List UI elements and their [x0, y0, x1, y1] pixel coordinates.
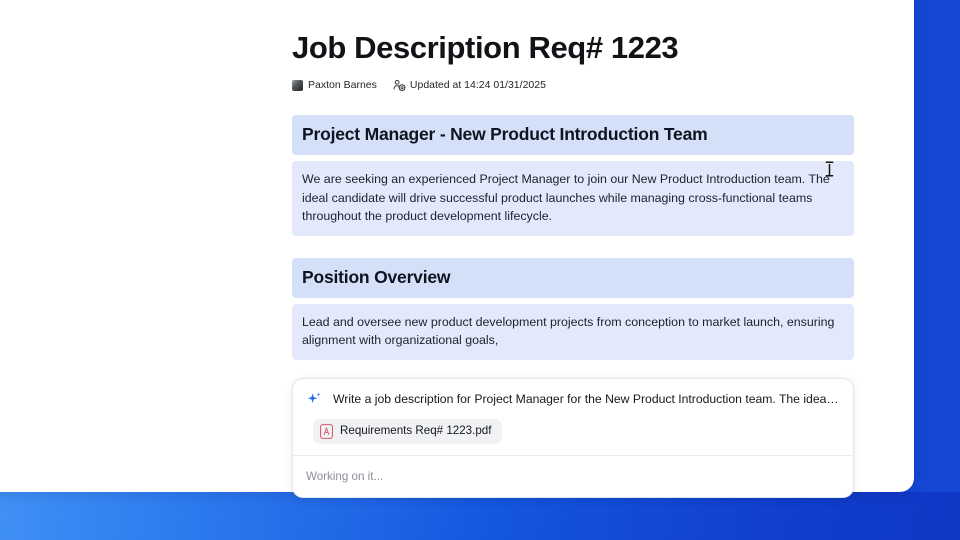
- section-heading-position-overview[interactable]: Position Overview: [292, 258, 854, 298]
- page-title: Job Description Req# 1223: [292, 28, 854, 68]
- document-meta-row: Paxton Barnes Updated at 14:24 01/31/202…: [292, 77, 854, 93]
- pdf-file-icon: [320, 424, 333, 439]
- section-body-position-overview[interactable]: Lead and oversee new product development…: [292, 304, 854, 360]
- attachment-file-name: Requirements Req# 1223.pdf: [340, 424, 491, 438]
- attachment-chip[interactable]: Requirements Req# 1223.pdf: [313, 419, 502, 444]
- author-group: Paxton Barnes: [292, 79, 377, 91]
- ai-prompt-text: Write a job description for Project Mana…: [333, 391, 840, 407]
- updated-group: Updated at 14:24 01/31/2025: [393, 79, 546, 92]
- ai-assistant-card: Write a job description for Project Mana…: [292, 378, 854, 498]
- author-name: Paxton Barnes: [308, 79, 377, 91]
- ai-card-prompt-section: Write a job description for Project Mana…: [293, 379, 853, 455]
- ai-status-text: Working on it...: [306, 470, 383, 483]
- avatar-icon: [292, 80, 303, 91]
- section-body-job-intro[interactable]: We are seeking an experienced Project Ma…: [292, 161, 854, 236]
- user-history-icon: [393, 79, 406, 92]
- background-bottom-gradient-band: [0, 492, 960, 540]
- updated-timestamp: Updated at 14:24 01/31/2025: [410, 79, 546, 91]
- section-heading-job-title[interactable]: Project Manager - New Product Introducti…: [292, 115, 854, 155]
- ai-prompt-row: Write a job description for Project Mana…: [306, 391, 840, 408]
- ai-sparkle-icon: [306, 391, 323, 408]
- document-content-column: Job Description Req# 1223 Paxton Barnes …: [292, 28, 854, 498]
- ai-card-status-section: Working on it...: [293, 456, 853, 497]
